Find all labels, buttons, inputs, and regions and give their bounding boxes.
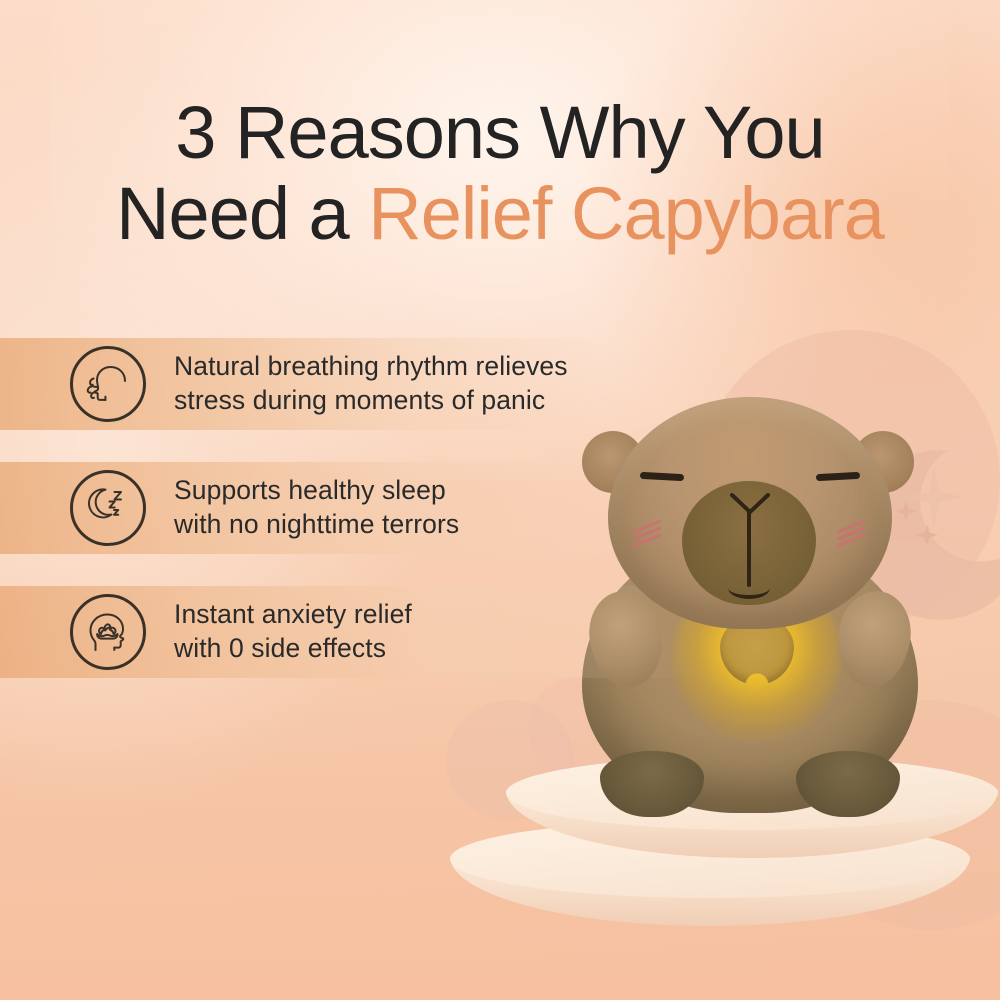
- capybara-mouth-line: [747, 509, 751, 587]
- capybara-foot-left: [600, 751, 704, 817]
- capybara-blush-right: [836, 525, 866, 545]
- head-lotus-icon: [70, 594, 146, 670]
- headline-line-1: 3 Reasons Why You: [175, 91, 824, 174]
- page-title: 3 Reasons Why You Need a Relief Capybara: [0, 92, 1000, 255]
- feature-text-sleep: Supports healthy sleep with no nighttime…: [174, 474, 459, 542]
- feature-text-breathing: Natural breathing rhythm relieves stress…: [174, 350, 568, 418]
- capybara-blush-left: [632, 525, 662, 545]
- capybara-mouth-curve: [728, 577, 770, 599]
- feature-text-anxiety: Instant anxiety relief with 0 side effec…: [174, 598, 412, 666]
- capybara-plush-product: [560, 395, 940, 815]
- capybara-foot-right: [796, 751, 900, 817]
- headline-line-2-plain: Need a: [116, 172, 368, 255]
- product-banner: 3 Reasons Why You Need a Relief Capybara…: [0, 0, 1000, 1000]
- headline-line-2-accent: Relief Capybara: [368, 172, 884, 255]
- moon-zzz-icon: [70, 470, 146, 546]
- breathing-head-icon: [70, 346, 146, 422]
- feature-row-breathing: Natural breathing rhythm relieves stress…: [0, 338, 700, 430]
